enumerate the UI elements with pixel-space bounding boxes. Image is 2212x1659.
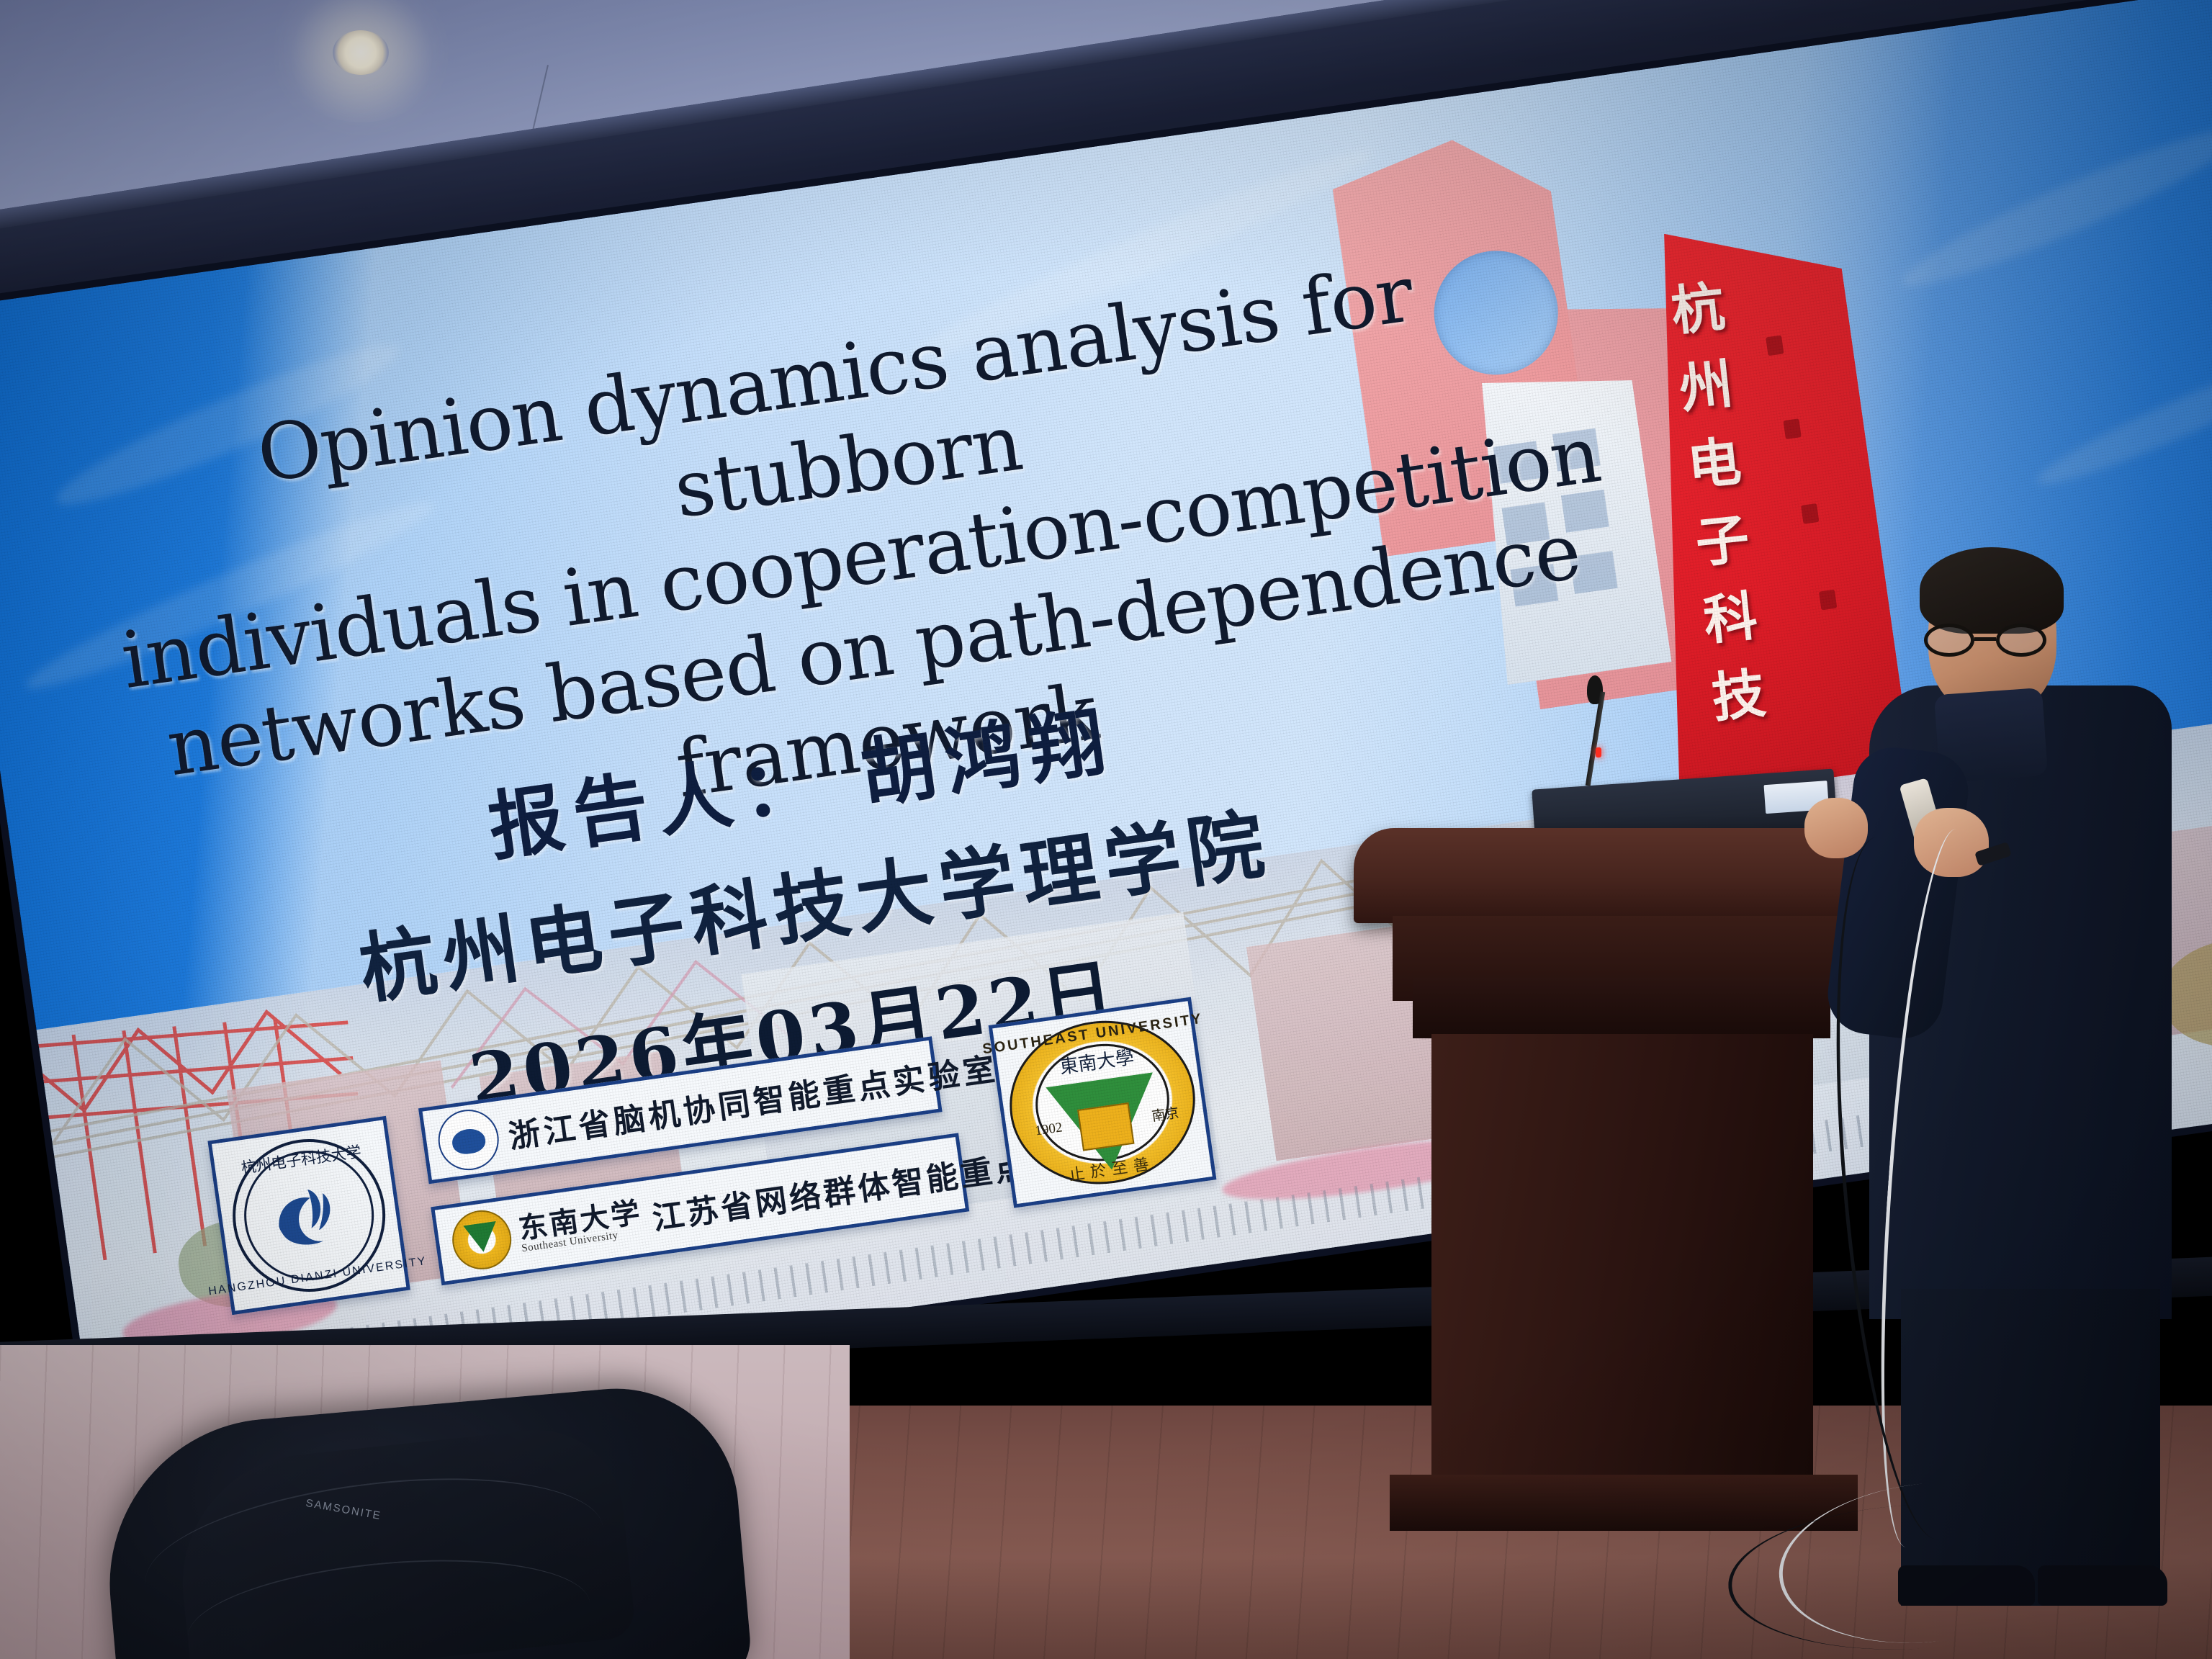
monument-detail (1766, 336, 1784, 356)
glasses-lens-left (1924, 624, 1974, 657)
hdu-bird-icon (262, 1177, 356, 1256)
monument-detail (1801, 503, 1819, 524)
hdu-seal-cn-text: 杭州电子科技大学 (240, 1140, 363, 1178)
glasses-bridge (1974, 637, 1996, 641)
logo-hangzhou-dianzi-university: 杭州电子科技大学 HANGZHOU DIANZI UNIVERSITY (207, 1116, 410, 1315)
speaker-glasses-icon (1924, 624, 2059, 657)
monument-detail (1819, 590, 1837, 611)
podium-base (1390, 1475, 1858, 1531)
speaker-hair (1920, 547, 2064, 634)
monument-detail (1783, 418, 1801, 439)
seu-seal-city: 南京 (1150, 1102, 1179, 1125)
photo-scene: 杭州电子科技 (0, 0, 2212, 1659)
podium-band (1413, 978, 1830, 1038)
seu-seal-gate-icon (1077, 1102, 1134, 1151)
podium-body (1431, 1034, 1813, 1480)
microphone-indicator-led (1596, 747, 1601, 757)
logo-southeast-university-seal: SOUTHEAST UNIVERSITY 東南大學 1902 南京 止於至善 (989, 997, 1217, 1208)
glasses-lens-right (1996, 624, 2046, 657)
seu-seal: SOUTHEAST UNIVERSITY 東南大學 1902 南京 止於至善 (999, 1009, 1206, 1196)
zhejiang-lab-icon (434, 1106, 503, 1174)
speaker-hand-left (1804, 798, 1868, 858)
hdu-seal-en-text: HANGZHOU DIANZI UNIVERSITY (207, 1255, 428, 1298)
downlight-halo (282, 0, 441, 122)
southeast-university-badge-icon (449, 1207, 516, 1274)
hdu-seal: 杭州电子科技大学 HANGZHOU DIANZI UNIVERSITY (222, 1129, 395, 1301)
